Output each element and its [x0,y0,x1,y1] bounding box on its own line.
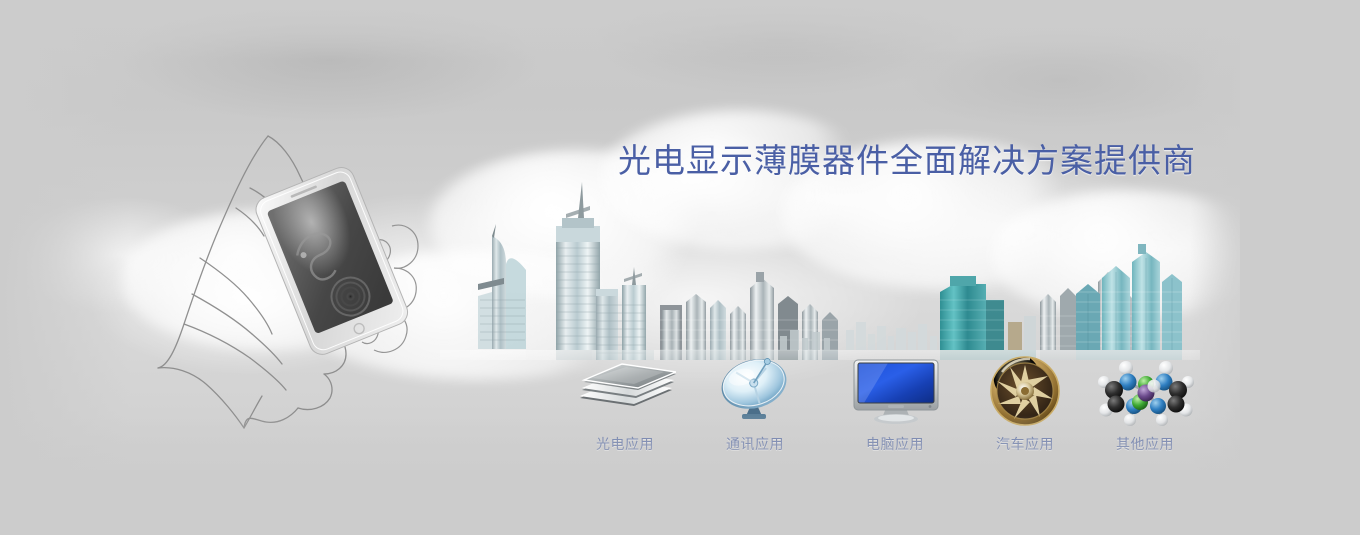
mid-tower-pair [596,267,646,360]
main-tower [556,182,600,350]
silver-tower-cluster [660,272,838,360]
page-title: 光电显示薄膜器件全面解决方案提供商 [618,141,1196,181]
blue-highrise-group [1076,244,1182,350]
edge-fade-left [0,0,130,535]
edge-fade-top [0,0,1360,60]
smartphone-illustration [252,164,411,359]
hero-banner: 光电显示薄膜器件全面解决方案提供商 [0,0,1360,535]
teal-tower-group [940,276,1036,350]
edge-fade-bottom [0,415,1360,535]
sail-tower [478,224,526,349]
